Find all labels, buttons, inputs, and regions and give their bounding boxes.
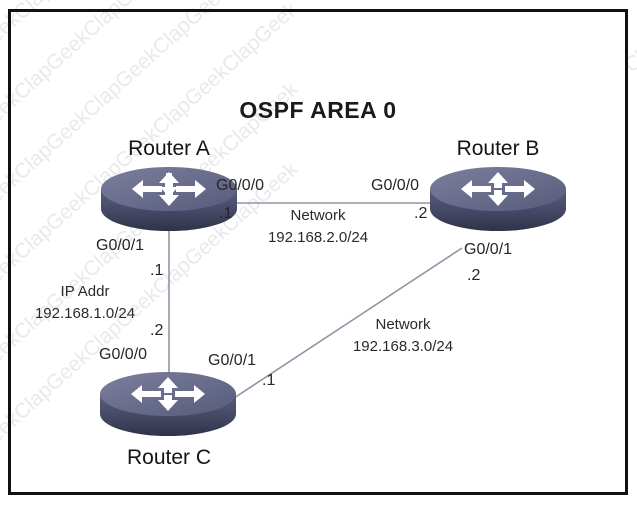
router-icon	[97, 368, 239, 440]
router-c-label: Router C	[127, 446, 211, 470]
ip-host-c-to-b: .1	[262, 372, 275, 390]
interface-label-a-to-c: G0/0/1	[96, 237, 144, 255]
network-diagram-canvas: ClapGeekClapGeekClapGeekClapGeekClapGeek…	[0, 0, 637, 505]
link-label-b-c-line1: Network	[375, 316, 430, 333]
link-label-a-b-line2: 192.168.2.0/24	[268, 229, 368, 246]
router-a-label: Router A	[128, 137, 210, 161]
ip-host-a-to-c: .1	[150, 262, 163, 280]
interface-label-c-to-b: G0/0/1	[208, 352, 256, 370]
router-b-node[interactable]	[427, 163, 569, 235]
ip-host-b-to-a: .2	[414, 205, 427, 223]
watermark-text: ClapGeekClapGeekClapGeekClapGeekClapGeek	[300, 0, 637, 8]
ip-host-b-to-c: .2	[467, 267, 480, 285]
watermark-text: ClapGeekClapGeekClapGeekClapGeekClapGeek	[0, 0, 303, 8]
router-icon	[427, 163, 569, 235]
interface-label-c-to-a: G0/0/0	[99, 346, 147, 364]
watermark-text: ClapGeekClapGeekClapGeekClapGeekClapGeek	[480, 0, 637, 8]
router-a-node[interactable]	[98, 163, 240, 235]
diagram-title: OSPF AREA 0	[239, 97, 396, 124]
link-label-a-c-line1: IP Addr	[61, 283, 110, 300]
link-label-b-c-line2: 192.168.3.0/24	[353, 338, 453, 355]
router-b-label: Router B	[457, 137, 540, 161]
interface-label-b-to-c: G0/0/1	[464, 241, 512, 259]
ip-host-c-to-a: .2	[150, 322, 163, 340]
interface-label-a-to-b: G0/0/0	[216, 177, 264, 195]
link-label-a-c-line2: 192.168.1.0/24	[35, 305, 135, 322]
watermark-text: ClapGeekClapGeekClapGeekClapGeekClapGeek	[120, 0, 483, 8]
router-icon	[98, 163, 240, 235]
ip-host-a-to-b: .1	[219, 205, 232, 223]
router-c-node[interactable]	[97, 368, 239, 440]
interface-label-b-to-a: G0/0/0	[371, 177, 419, 195]
link-label-a-b-line1: Network	[290, 207, 345, 224]
